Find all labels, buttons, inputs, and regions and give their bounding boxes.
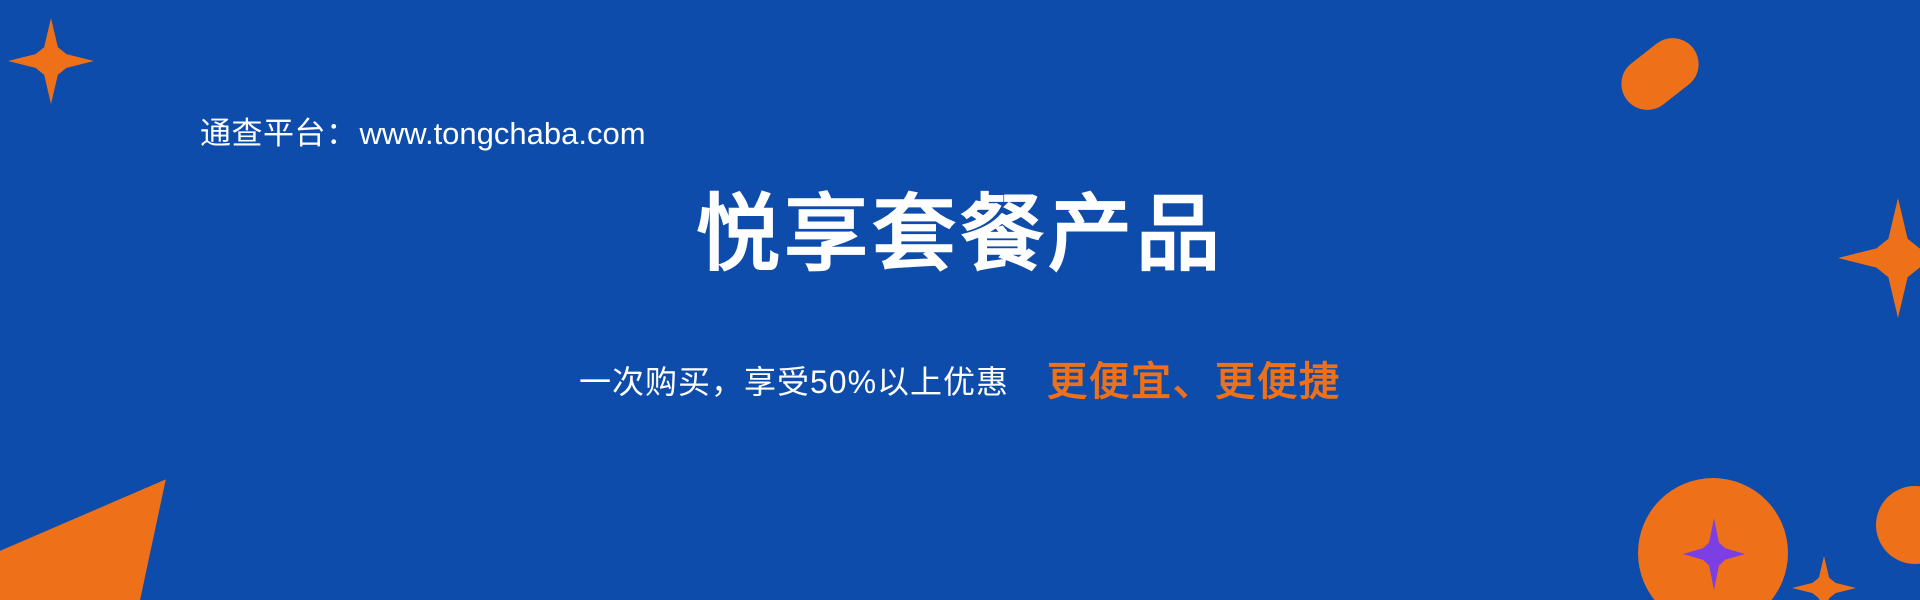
promo-banner: 通查平台：www.tongchaba.com 悦享套餐产品 一次购买，享受50%… [0, 0, 1920, 600]
banner-content: 通查平台：www.tongchaba.com 悦享套餐产品 一次购买，享受50%… [0, 0, 1920, 600]
subtitle-text: 一次购买，享受50%以上优惠 [579, 364, 1009, 400]
platform-url: www.tongchaba.com [360, 116, 646, 151]
platform-url-line: 通查平台：www.tongchaba.com [200, 108, 646, 153]
subtitle-highlight: 更便宜、更便捷 [1047, 360, 1341, 404]
page-title: 悦享套餐产品 [0, 190, 1920, 278]
platform-label: 通查平台： [200, 116, 358, 151]
subtitle-row: 一次购买，享受50%以上优惠更便宜、更便捷 [0, 362, 1920, 402]
